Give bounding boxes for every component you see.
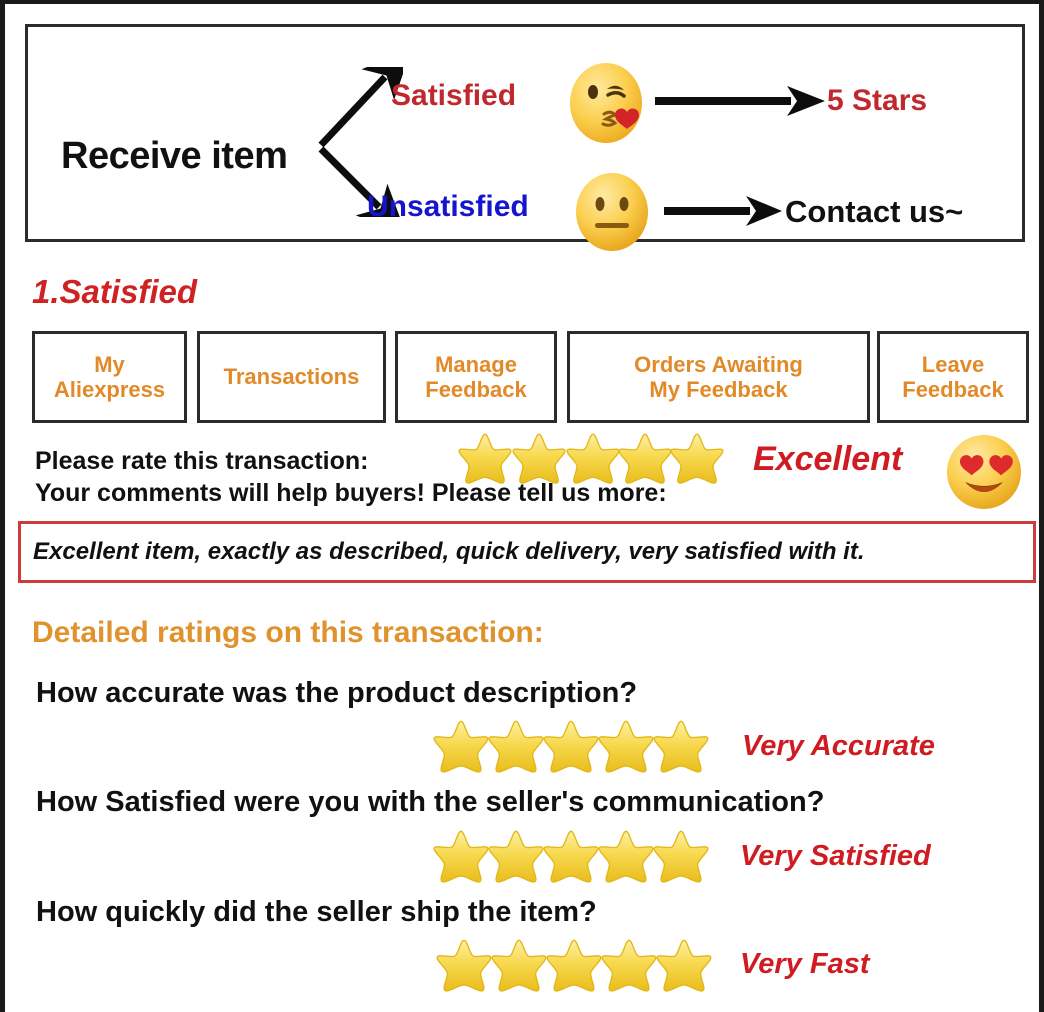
flow-branch-label-satisfied: Satisfied — [391, 79, 516, 113]
flow-arrow-to-contact-icon — [664, 194, 784, 228]
overall-rating-stars[interactable] — [457, 430, 725, 486]
comment-value: Excellent item, exactly as described, qu… — [21, 538, 864, 566]
flow-start-label: Receive item — [61, 135, 287, 178]
neutral-face-emoji — [571, 171, 653, 253]
detailed-rating-stars-1[interactable] — [432, 827, 712, 885]
detailed-rating-stars-2[interactable] — [435, 936, 715, 994]
kissing-heart-emoji — [564, 59, 652, 147]
tab-manage-feedback-line2: Feedback — [425, 377, 527, 402]
tab-orders-awaiting-line2: My Feedback — [649, 377, 787, 402]
tab-orders-awaiting-line1: Orders Awaiting — [634, 352, 803, 377]
tab-my-aliexpress-line2: Aliexpress — [54, 377, 165, 402]
overall-rating-label: Excellent — [753, 440, 902, 479]
tab-leave-feedback-line1: Leave — [922, 352, 984, 377]
detailed-rating-stars-0[interactable] — [432, 717, 712, 775]
tab-transactions-label: Transactions — [224, 364, 360, 389]
rate-prompt-line1: Please rate this transaction: — [35, 447, 368, 476]
flow-branch-label-unsatisfied: Unsatisfied — [367, 190, 529, 224]
heart-eyes-emoji — [945, 433, 1023, 511]
comment-textarea[interactable]: Excellent item, exactly as described, qu… — [18, 521, 1036, 583]
detailed-ratings-heading: Detailed ratings on this transaction: — [32, 616, 544, 650]
tab-manage-feedback[interactable]: Manage Feedback — [395, 331, 557, 423]
detailed-question-0: How accurate was the product description… — [36, 677, 637, 710]
tab-leave-feedback-line2: Feedback — [902, 377, 1004, 402]
tab-transactions[interactable]: Transactions — [197, 331, 386, 423]
detailed-answer-1: Very Satisfied — [740, 840, 931, 873]
tab-leave-feedback[interactable]: Leave Feedback — [877, 331, 1029, 423]
page-sheet: Receive item Satisfied Unsatisfied — [5, 4, 1039, 1008]
tab-my-aliexpress[interactable]: My Aliexpress — [32, 331, 187, 423]
detailed-question-2: How quickly did the seller ship the item… — [36, 896, 597, 929]
flow-outcome-contact-us: Contact us~ — [785, 194, 963, 230]
detailed-answer-2: Very Fast — [740, 948, 870, 981]
flow-outcome-5-stars: 5 Stars — [827, 84, 927, 118]
tab-orders-awaiting-my-feedback[interactable]: Orders Awaiting My Feedback — [567, 331, 870, 423]
detailed-answer-0: Very Accurate — [742, 730, 935, 763]
flow-diagram-panel: Receive item Satisfied Unsatisfied — [25, 24, 1025, 242]
tab-my-aliexpress-line1: My — [94, 352, 125, 377]
tab-manage-feedback-line1: Manage — [435, 352, 517, 377]
section-heading-satisfied: 1.Satisfied — [32, 273, 197, 311]
detailed-question-1: How Satisfied were you with the seller's… — [36, 786, 824, 819]
page-border-right — [1039, 0, 1044, 1012]
flow-arrow-to-5-stars-icon — [655, 84, 827, 118]
